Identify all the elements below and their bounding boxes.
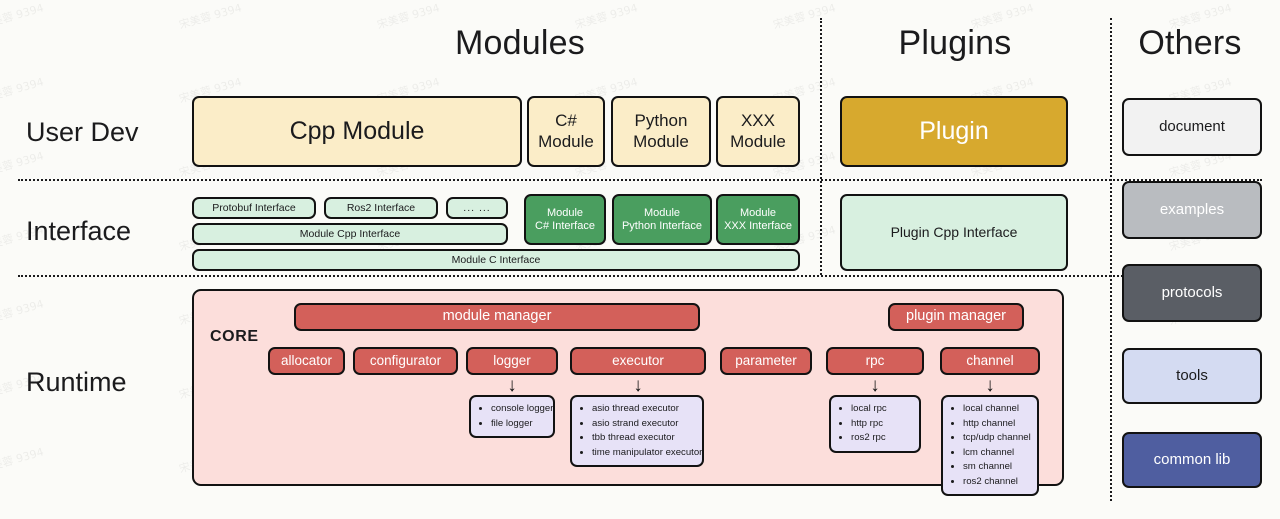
- box-channel[interactable]: channel: [940, 347, 1040, 375]
- box-module-csharp-interface[interactable]: Module C# Interface: [524, 194, 606, 245]
- watermark-text: 宋美蓉 9394: [0, 295, 45, 328]
- list-item: local rpc: [851, 402, 913, 417]
- list-item: ros2 rpc: [851, 431, 913, 446]
- list-item: local channel: [963, 402, 1031, 417]
- box-tools[interactable]: tools: [1122, 348, 1262, 404]
- arrow-down-icon-executor: ↓: [625, 375, 651, 395]
- arrow-down-icon-logger: ↓: [499, 375, 525, 395]
- watermark-text: 宋美蓉 9394: [771, 0, 837, 33]
- list-item: tcp/udp channel: [963, 431, 1031, 446]
- list-item: http rpc: [851, 417, 913, 432]
- box-module-manager[interactable]: module manager: [294, 303, 700, 331]
- watermark-text: 宋美蓉 9394: [0, 147, 45, 180]
- list-item: console logger: [491, 402, 547, 417]
- box-parameter[interactable]: parameter: [720, 347, 812, 375]
- watermark-text: 宋美蓉 9394: [0, 443, 45, 476]
- box-common-lib[interactable]: common lib: [1122, 432, 1262, 488]
- box-executor[interactable]: executor: [570, 347, 706, 375]
- row-label-runtime: Runtime: [26, 367, 127, 398]
- list-item: asio strand executor: [592, 417, 696, 432]
- row-label-user-dev: User Dev: [26, 117, 139, 148]
- box-logger[interactable]: logger: [466, 347, 558, 375]
- column-title-others: Others: [1100, 24, 1280, 63]
- sublist-channel: local channelhttp channeltcp/udp channel…: [941, 395, 1039, 496]
- watermark-text: 宋美蓉 9394: [0, 73, 45, 106]
- box-module-c-interface[interactable]: Module C Interface: [192, 249, 800, 271]
- core-label: CORE: [210, 328, 259, 346]
- arrow-down-icon-channel: ↓: [977, 375, 1003, 395]
- row-divider-userdev-interface: [18, 179, 1262, 181]
- column-divider-plugins-others: [1110, 18, 1112, 501]
- box-plugin-cpp-interface[interactable]: Plugin Cpp Interface: [840, 194, 1068, 271]
- box-module-python-interface[interactable]: Module Python Interface: [612, 194, 712, 245]
- list-item: file logger: [491, 417, 547, 432]
- arrow-down-icon-rpc: ↓: [862, 375, 888, 395]
- box-protocols[interactable]: protocols: [1122, 264, 1262, 322]
- box-python-module[interactable]: Python Module: [611, 96, 711, 167]
- sublist-logger: console loggerfile logger: [469, 395, 555, 438]
- box-examples[interactable]: examples: [1122, 181, 1262, 239]
- box-allocator[interactable]: allocator: [268, 347, 345, 375]
- column-title-plugins: Plugins: [840, 24, 1070, 63]
- list-item: time manipulator executor: [592, 446, 696, 461]
- box-ellipsis-interface[interactable]: ... ...: [446, 197, 508, 219]
- list-item: http channel: [963, 417, 1031, 432]
- box-csharp-module[interactable]: C# Module: [527, 96, 605, 167]
- row-label-interface: Interface: [26, 216, 131, 247]
- box-module-xxx-interface[interactable]: Module XXX Interface: [716, 194, 800, 245]
- list-item: sm channel: [963, 460, 1031, 475]
- list-item: ros2 channel: [963, 475, 1031, 490]
- box-plugin-manager[interactable]: plugin manager: [888, 303, 1024, 331]
- diagram-canvas: 宋美蓉 9394宋美蓉 9394宋美蓉 9394宋美蓉 9394宋美蓉 9394…: [0, 0, 1280, 519]
- box-ros2-interface[interactable]: Ros2 Interface: [324, 197, 438, 219]
- row-divider-interface-runtime: [18, 275, 1262, 277]
- watermark-text: 宋美蓉 9394: [177, 0, 243, 33]
- list-item: asio thread executor: [592, 402, 696, 417]
- box-plugin[interactable]: Plugin: [840, 96, 1068, 167]
- box-module-cpp-interface[interactable]: Module Cpp Interface: [192, 223, 508, 245]
- box-cpp-module[interactable]: Cpp Module: [192, 96, 522, 167]
- box-xxx-module[interactable]: XXX Module: [716, 96, 800, 167]
- list-item: tbb thread executor: [592, 431, 696, 446]
- watermark-text: 宋美蓉 9394: [0, 0, 45, 33]
- column-divider-modules-plugins: [820, 18, 822, 275]
- column-title-modules: Modules: [380, 24, 660, 63]
- box-protobuf-interface[interactable]: Protobuf Interface: [192, 197, 316, 219]
- sublist-rpc: local rpchttp rpcros2 rpc: [829, 395, 921, 453]
- box-rpc[interactable]: rpc: [826, 347, 924, 375]
- box-configurator[interactable]: configurator: [353, 347, 458, 375]
- box-document[interactable]: document: [1122, 98, 1262, 156]
- sublist-executor: asio thread executorasio strand executor…: [570, 395, 704, 467]
- list-item: lcm channel: [963, 446, 1031, 461]
